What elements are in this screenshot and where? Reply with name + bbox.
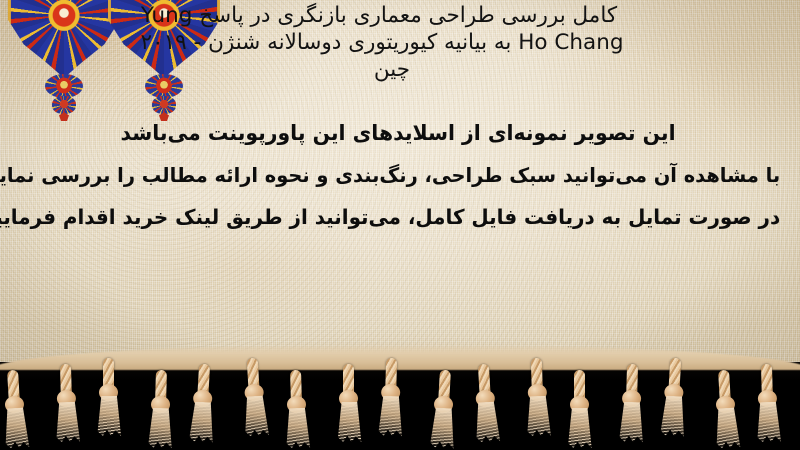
carpet-fringe-knot: [0, 369, 34, 441]
carpet-fringe-row: [0, 358, 800, 440]
carpet-fringe-knot: [614, 364, 650, 441]
fringe-tuft: [96, 396, 122, 436]
carpet-fringe-knot: [750, 364, 786, 441]
carpet-fringe-knot: [279, 370, 315, 441]
carpet-fringe-knot: [707, 369, 745, 441]
fringe-tuft: [713, 407, 741, 448]
fringe-tuft: [336, 402, 362, 442]
carpet-fringe-knot: [373, 358, 409, 441]
carpet-fringe-knot: [236, 357, 275, 441]
fringe-tuft: [242, 395, 270, 436]
fringe-tuft: [2, 407, 30, 448]
fringe-tuft: [428, 407, 456, 448]
carpet-fringe-knot: [184, 363, 222, 441]
carpet-fringe-knot: [520, 358, 556, 441]
slide-body-text: این تصویر نمونه‌ای از اسلایدهای این پاور…: [4, 112, 792, 238]
slide-body-line-1: این تصویر نمونه‌ای از اسلایدهای این پاور…: [16, 112, 780, 154]
carpet-fringe-band: [0, 338, 800, 450]
slide-title-line-1: کامل بررسی طراحی معماری بازنگری در پاسخ …: [0, 2, 794, 29]
fringe-tuft: [659, 395, 687, 436]
fringe-tuft: [525, 396, 552, 437]
slide-title-line-3: چین: [0, 56, 794, 83]
slide-body-line-2: با مشاهده آن می‌توانید سبک طراحی، رنگ‌بن…: [16, 154, 780, 196]
carpet-fringe-knot: [466, 363, 504, 441]
fringe-tuft: [188, 401, 216, 442]
fringe-tuft: [284, 408, 311, 449]
fringe-tuft: [567, 408, 593, 448]
carpet-fringe-knot: [655, 357, 694, 441]
carpet-fringe-knot: [143, 370, 179, 441]
slide-title: کامل بررسی طراحی معماری بازنگری در پاسخ …: [0, 2, 794, 83]
slide-body-line-3: در صورت تمایل به دریافت فایل کامل، می‌تو…: [16, 196, 780, 238]
carpet-fringe-knot: [92, 358, 126, 440]
fringe-tuft: [473, 401, 501, 442]
powerpoint-slide-sample: کامل بررسی طراحی معماری بازنگری در پاسخ …: [0, 0, 800, 450]
fringe-tuft: [618, 402, 645, 443]
slide-title-line-2: Ho Chang به بیانیه کیوریتوری دوسالانه شن…: [0, 29, 794, 56]
fringe-tuft: [54, 402, 81, 443]
fringe-tuft: [755, 402, 782, 443]
carpet-fringe-knot: [49, 364, 85, 441]
fringe-tuft: [377, 396, 404, 437]
fringe-tuft: [147, 408, 174, 449]
carpet-fringe-knot: [332, 364, 366, 440]
carpet-fringe-knot: [563, 370, 597, 440]
carpet-fringe-knot: [425, 369, 463, 441]
